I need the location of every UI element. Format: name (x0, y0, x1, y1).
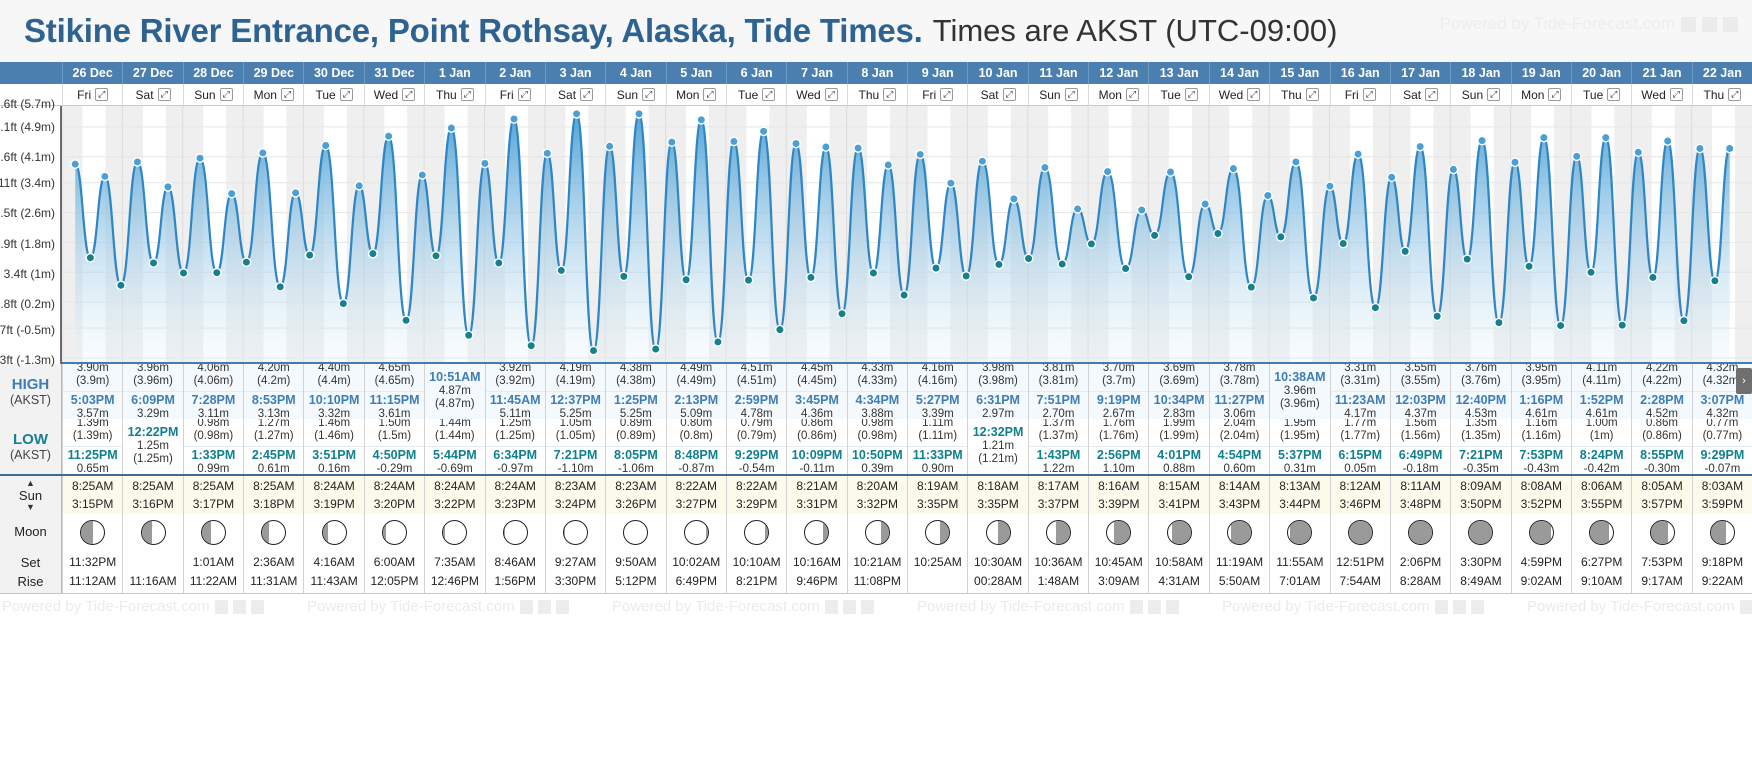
sunrise-arrow-icon: ▲ (26, 479, 35, 488)
moon-phase-cell (1571, 514, 1631, 551)
tide-height-alt: (4.22m) (1632, 375, 1691, 389)
sunset-time: 3:39PM (1089, 495, 1148, 513)
moon-phase-cell (1450, 514, 1510, 551)
tide-height: 4.65m (365, 364, 424, 375)
moon-shadow (998, 520, 1010, 545)
expand-icon[interactable]: ⤢ (1607, 88, 1620, 101)
tide-entry: 6:53AM4.06m(4.06m) (184, 364, 243, 391)
dayofweek-cell[interactable]: Sun⤢ (1028, 84, 1088, 106)
tide-height: 0.99m (184, 463, 243, 474)
tide-height: 1.25m (123, 440, 182, 454)
low-tide-cell: 4:37AM1.95m(1.95m)5:37PM0.31m(0.31m) (1269, 419, 1329, 474)
tide-height: 0.05m (1331, 463, 1390, 474)
dayofweek-cell[interactable]: Thu⤢ (424, 84, 484, 106)
moon-setrise-row: Set Rise 11:32PM11:12AM 11:16AM1:01AM11:… (0, 551, 1752, 593)
dayofweek-cell[interactable]: Sun⤢ (183, 84, 243, 106)
low-tide-cell: 8:11AM0.80m(0.8m)8:48PM-0.87m(-0.87m) (666, 419, 726, 474)
moon-setrise-cell: 3:30PM8:49AM (1450, 551, 1510, 593)
high-tide-cell: 2:17AM4.11m(4.11m)1:52PM4.61m(4.61m) (1571, 364, 1631, 419)
date-header-cell[interactable]: 12 Jan (1088, 62, 1148, 84)
page-subtitle: Times are AKST (UTC-09:00) (933, 13, 1338, 49)
dayofweek-label: Wed (1641, 88, 1665, 102)
dayofweek-cell[interactable]: Tue⤢ (1148, 84, 1208, 106)
tide-height: 1.95m (1270, 419, 1329, 430)
tide-time: 10:34PM (1149, 393, 1208, 408)
expand-icon[interactable]: ⤢ (940, 88, 953, 101)
expand-icon[interactable]: ⤢ (220, 88, 233, 101)
moon-setrise-cell: 10:36AM1:48AM (1028, 551, 1088, 593)
date-header-cell[interactable]: 31 Dec (364, 62, 424, 84)
moon-shadow (262, 520, 269, 545)
tide-entry: 6:00AM3.96m(3.96m) (123, 364, 182, 391)
moon-phase-cell (786, 514, 846, 551)
moonset-time: 10:21AM (848, 553, 907, 572)
sun-times-cell: 8:16AM3:39PM (1088, 476, 1148, 514)
high-tide-cell: 5:15AM4.16m(4.16m)5:27PM3.39m(3.39m) (907, 364, 967, 419)
high-tide-cell: 3:10AM4.51m(4.51m)2:59PM4.78m(4.78m) (726, 364, 786, 419)
dayofweek-cell[interactable]: Sat⤢ (1390, 84, 1450, 106)
moonset-time: 9:18PM (1693, 553, 1752, 572)
high-label-text: HIGH (12, 376, 50, 393)
date-header-cell[interactable]: 27 Dec (122, 62, 182, 84)
moonset-time: 10:16AM (787, 553, 846, 572)
dayofweek-cell[interactable]: Mon⤢ (1511, 84, 1571, 106)
tide-height: 4.61m (1512, 408, 1571, 419)
dayofweek-cell[interactable]: Wed⤢ (364, 84, 424, 106)
low-tide-cell: 12:22PM1.25m(1.25m) (122, 419, 182, 474)
date-header-cell[interactable]: 13 Jan (1148, 62, 1208, 84)
tide-time: 10:09PM (787, 448, 846, 463)
tide-entry: 2:47AM4.22m(4.22m) (1632, 364, 1691, 391)
moon-setrise-cell: 7:53PM9:17AM (1631, 551, 1691, 593)
tide-height: -0.87m (667, 463, 726, 474)
dayofweek-cell[interactable]: Thu⤢ (1692, 84, 1752, 106)
tide-entry: 10:50PM0.39m(0.39m) (848, 446, 907, 474)
tide-time: 1:25PM (606, 393, 665, 408)
date-header-row: 26 Dec27 Dec28 Dec29 Dec30 Dec31 Dec1 Ja… (0, 62, 1752, 84)
tide-entry: 5:15AM4.16m(4.16m) (908, 364, 967, 391)
moonrise-time (908, 572, 967, 591)
sunset-time: 3:37PM (1029, 495, 1088, 513)
tide-entry: 10:38AM3.96m(3.96m) (1270, 369, 1329, 414)
footer-icon-1 (1435, 600, 1448, 614)
tide-entry: 6:00AM3.98m(3.98m) (968, 364, 1027, 391)
tide-time: 1:52PM (1572, 393, 1631, 408)
sunrise-time: 8:22AM (667, 477, 726, 495)
tide-height-alt: (1.99m) (1149, 430, 1208, 444)
footer-watermark: Powered by Tide-Forecast.com (307, 598, 569, 615)
tide-height: 0.98m (184, 419, 243, 430)
dayofweek-cell[interactable]: Tue⤢ (1571, 84, 1631, 106)
expand-icon[interactable]: ⤢ (281, 88, 294, 101)
sunset-time: 3:48PM (1391, 495, 1450, 513)
footer-watermark-text: Powered by Tide-Forecast.com (2, 598, 210, 615)
tide-time: 10:50PM (848, 448, 907, 463)
low-tide-cell: 11:31AM1.11m(1.11m)11:33PM0.90m(0.9m) (907, 419, 967, 474)
sunset-time: 3:44PM (1270, 495, 1329, 513)
tide-time: 12:40PM (1451, 393, 1510, 408)
tide-entry: 2:45PM0.61m(0.61m) (244, 446, 303, 474)
tide-entry: 2:59PM4.78m(4.78m) (727, 391, 786, 419)
moonset-time: 4:16AM (304, 553, 363, 572)
tide-height-alt: (4.45m) (787, 375, 846, 389)
dayofweek-cell[interactable]: Sun⤢ (1450, 84, 1510, 106)
tide-entry: 5:03PM3.57m(3.57m) (63, 391, 122, 419)
sunrise-time: 8:13AM (1270, 477, 1329, 495)
dayofweek-cell[interactable]: Sun⤢ (605, 84, 665, 106)
sun-times-cell: 8:17AM3:37PM (1028, 476, 1088, 514)
moon-phase-icon (382, 520, 407, 545)
moonrise-time: 11:22AM (184, 572, 243, 591)
date-header-cell[interactable]: 28 Dec (183, 62, 243, 84)
expand-icon[interactable]: ⤢ (95, 88, 108, 101)
date-header-cell[interactable]: 20 Jan (1571, 62, 1631, 84)
footer-icon-1 (215, 600, 228, 614)
footer-watermark-text: Powered by Tide-Forecast.com (1527, 598, 1735, 615)
tide-height: 1.76m (1089, 419, 1148, 430)
tide-entry: 12:03PM4.37m(4.37m) (1391, 391, 1450, 419)
tide-height: 0.39m (848, 463, 907, 474)
expand-icon[interactable]: ⤢ (1185, 88, 1198, 101)
moon-phase-icon (1046, 520, 1071, 545)
tide-height: 4.53m (1451, 408, 1510, 419)
tide-height: 0.31m (1270, 463, 1329, 474)
date-header-cell[interactable]: 5 Jan (666, 62, 726, 84)
tide-height: 1.99m (1149, 419, 1208, 430)
dayofweek-cell[interactable]: Sat⤢ (545, 84, 605, 106)
date-header-cell[interactable]: 9 Jan (907, 62, 967, 84)
date-header-cell[interactable]: 7 Jan (786, 62, 846, 84)
moon-phase-cell (666, 514, 726, 551)
sun-times-cell: 8:23AM3:26PM (605, 476, 665, 514)
date-header-cell[interactable]: 22 Jan (1692, 62, 1752, 84)
expand-icon[interactable]: ⤢ (825, 88, 838, 101)
dayofweek-cell[interactable]: Fri⤢ (485, 84, 545, 106)
tide-height: 1.22m (1029, 463, 1088, 474)
moonset-time: 7:35AM (425, 553, 484, 572)
expand-icon[interactable]: ⤢ (158, 88, 171, 101)
low-tide-cell: 12:32PM1.21m(1.21m) (967, 419, 1027, 474)
footer-watermark: Powered by Tide-Forecast.com (1527, 598, 1752, 615)
tide-height: 1.05m (546, 419, 605, 430)
moon-phase-cell (1209, 514, 1269, 551)
low-tide-cell: 11:18AM1.39m(1.39m)11:25PM0.65m(0.65m) (62, 419, 122, 474)
low-tide-cell: 7:58AM1.00m(1m)8:24PM-0.42m(-0.42m) (1571, 419, 1631, 474)
tide-entry: 8:46AM3.69m(3.69m) (1149, 364, 1208, 391)
moon-phase-icon (1287, 520, 1312, 545)
tide-entry: 6:49AM3.81m(3.81m) (1029, 364, 1088, 391)
sunset-time: 3:31PM (787, 495, 846, 513)
tide-time: 4:34PM (848, 393, 907, 408)
tide-entry: 1:52PM4.61m(4.61m) (1572, 391, 1631, 419)
tide-entry: 5:40AM1.25m(1.25m) (486, 419, 545, 446)
expand-icon[interactable]: ⤢ (1363, 88, 1376, 101)
moon-setrise-cell: 11:32PM11:12AM (62, 551, 122, 593)
dayofweek-cell[interactable]: Wed⤢ (1631, 84, 1691, 106)
footer-icon-2 (538, 600, 551, 614)
tide-height: 0.89m (606, 419, 665, 430)
tide-height: 3.13m (244, 408, 303, 419)
dayofweek-label: Wed (796, 88, 820, 102)
date-header-cell[interactable]: 19 Jan (1511, 62, 1571, 84)
moon-setrise-cell: 9:27AM3:30PM (545, 551, 605, 593)
dayofweek-cell[interactable]: Sat⤢ (122, 84, 182, 106)
moon-phase-icon (563, 520, 588, 545)
expand-icon[interactable]: ⤢ (402, 88, 415, 101)
moon-shadow (765, 520, 768, 545)
sunset-time: 3:41PM (1149, 495, 1208, 513)
date-header-cell[interactable]: 26 Dec (62, 62, 122, 84)
moon-phase-cell (303, 514, 363, 551)
dayofweek-cell[interactable]: Wed⤢ (786, 84, 846, 106)
tide-height: -0.97m (486, 463, 545, 474)
tide-time: 5:44PM (425, 448, 484, 463)
low-tide-cell: 00:21AM1.37m(1.37m)1:43PM1.22m(1.22m) (1028, 419, 1088, 474)
moon-phase-cell (545, 514, 605, 551)
dayofweek-cell[interactable]: Mon⤢ (666, 84, 726, 106)
date-header-cell[interactable]: 10 Jan (967, 62, 1027, 84)
tide-entry: 5:44PM-0.69m(-0.69m) (425, 446, 484, 474)
expand-icon[interactable]: ⤢ (703, 88, 716, 101)
high-tide-cell: 6:00AM3.96m(3.96m)6:09PM3.29m(3.29m) (122, 364, 182, 419)
tide-entry: 6:07AM1.56m(1.56m) (1391, 419, 1450, 446)
sunrise-time: 8:06AM (1572, 477, 1631, 495)
moonrise-time: 9:02AM (1512, 572, 1571, 591)
footer-icon-1 (520, 600, 533, 614)
tide-entry: 1:16PM4.61m(4.61m) (1512, 391, 1571, 419)
dayofweek-label: Fri (922, 88, 936, 102)
moonrise-time: 11:12AM (63, 572, 122, 591)
tide-height: 4.45m (787, 364, 846, 375)
expand-icon[interactable]: ⤢ (518, 88, 531, 101)
date-header-cell[interactable]: 30 Dec (303, 62, 363, 84)
high-tide-cell: 1:44AM4.38m(4.38m)1:25PM5.25m(5.25m) (605, 364, 665, 419)
date-header-cell[interactable]: 21 Jan (1631, 62, 1691, 84)
moon-phase-icon (261, 520, 286, 545)
tide-height: 1.37m (1029, 419, 1088, 430)
tide-entry: 5:27PM3.39m(3.39m) (908, 391, 967, 419)
tide-height: -0.29m (365, 463, 424, 474)
tide-entry: 8:24PM-0.42m(-0.42m) (1572, 446, 1631, 474)
dayofweek-cell[interactable]: Sat⤢ (967, 84, 1027, 106)
tide-entry: 4:34PM3.88m(3.88m) (848, 391, 907, 419)
expand-icon[interactable]: ⤢ (580, 88, 593, 101)
expand-icon[interactable]: ⤢ (1306, 88, 1319, 101)
expand-icon[interactable]: ⤢ (1247, 88, 1260, 101)
tide-height: 0.90m (908, 463, 967, 474)
footer-icon-2 (233, 600, 246, 614)
moon-phase-icon (1710, 520, 1735, 545)
low-tide-cell: 1:19AM1.76m(1.76m)2:56PM1.10m(1.1m) (1088, 419, 1148, 474)
footer-watermark: Powered by Tide-Forecast.com (612, 598, 874, 615)
tide-height: 2.97m (968, 408, 1027, 419)
dayofweek-cell[interactable]: Thu⤢ (847, 84, 907, 106)
dayofweek-cell[interactable]: Fri⤢ (1330, 84, 1390, 106)
date-header-cell[interactable]: 17 Jan (1390, 62, 1450, 84)
tide-height: 4.52m (1632, 408, 1691, 419)
high-tide-cell: 6:53AM4.06m(4.06m)7:28PM3.11m(3.11m) (183, 364, 243, 419)
tide-entry: 9:29PM-0.54m(-0.54m) (727, 446, 786, 474)
moon-phase-cell (1148, 514, 1208, 551)
tide-entry: 9:19PM2.67m(2.67m) (1089, 391, 1148, 419)
dayofweek-cell[interactable]: Fri⤢ (907, 84, 967, 106)
date-header-cell[interactable]: 1 Jan (424, 62, 484, 84)
moon-shadow (202, 520, 211, 545)
tide-entry: 00:09AM3.31m(3.31m) (1331, 364, 1390, 391)
moon-phase-cell (1330, 514, 1390, 551)
tide-time: 7:21PM (1451, 448, 1510, 463)
expand-icon[interactable]: ⤢ (461, 88, 474, 101)
dayofweek-cell[interactable]: Fri⤢ (62, 84, 122, 106)
dayofweek-label: Mon (254, 88, 277, 102)
tide-height-alt: (3.31m) (1331, 375, 1390, 389)
sun-times-cell: 8:23AM3:24PM (545, 476, 605, 514)
dayofweek-label: Fri (77, 88, 91, 102)
tide-height: 5.09m (667, 408, 726, 419)
tide-height-alt: (4.19m) (546, 375, 605, 389)
tide-height: -0.54m (727, 463, 786, 474)
tide-height-alt: (4.51m) (727, 375, 786, 389)
tide-time: 10:51AM (425, 370, 484, 385)
scroll-right-button[interactable]: › (1736, 368, 1752, 394)
tide-time: 10:38AM (1270, 370, 1329, 385)
tide-height-alt: (1.5m) (365, 430, 424, 444)
header-watermark: Powered by Tide-Forecast.com (1440, 14, 1738, 34)
dayofweek-cell[interactable]: Wed⤢ (1209, 84, 1269, 106)
tide-height: 0.98m (848, 419, 907, 430)
tide-height: 0.61m (244, 463, 303, 474)
expand-icon[interactable]: ⤢ (883, 88, 896, 101)
tide-entry: 2:29AM1.46m(1.46m) (304, 419, 363, 446)
low-tide-cell: 00:18AM0.98m(0.98m)1:33PM0.99m(0.99m) (183, 419, 243, 474)
tide-entry: 11:15PM3.61m(3.61m) (365, 391, 424, 419)
date-header-cell[interactable]: 15 Jan (1269, 62, 1329, 84)
tide-height-alt: (0.98m) (848, 430, 907, 444)
expand-icon[interactable]: ⤢ (642, 88, 655, 101)
expand-icon[interactable]: ⤢ (1126, 88, 1139, 101)
tide-height: 1.46m (304, 419, 363, 430)
tide-height: 3.76m (1451, 364, 1510, 375)
sunrise-time: 8:24AM (486, 477, 545, 495)
tide-height: 3.06m (1210, 408, 1269, 419)
high-tide-cell: 6:49AM3.81m(3.81m)7:51PM2.70m(2.7m) (1028, 364, 1088, 419)
moon-shadow (823, 520, 828, 545)
expand-icon[interactable]: ⤢ (1548, 88, 1561, 101)
sun-times-cell: 8:09AM3:50PM (1450, 476, 1510, 514)
expand-icon[interactable]: ⤢ (1487, 88, 1500, 101)
tide-height: 1.77m (1331, 419, 1390, 430)
tide-entry: 2:17AM4.11m(4.11m) (1572, 364, 1631, 391)
moon-shadow (383, 520, 386, 545)
tide-height: -0.35m (1451, 463, 1510, 474)
date-header-cell[interactable]: 4 Jan (605, 62, 665, 84)
low-tide-cell: 8:59AM0.79m(0.79m)9:29PM-0.54m(-0.54m) (726, 419, 786, 474)
sunset-time: 3:59PM (1693, 495, 1752, 513)
moon-setrise-cell: 11:16AM (122, 551, 182, 593)
moon-phase-icon (1589, 520, 1614, 545)
tide-height: 1.44m (425, 419, 484, 430)
chart-y-axis: 16.1ft (4.9m)13.6ft (4.1m)11ft (3.4m)8.5… (0, 106, 62, 364)
low-tide-cell: 7:23AM0.89m(0.89m)8:05PM-1.06m(-1.06m) (605, 419, 665, 474)
tide-entry: 4:01PM0.88m(0.88m) (1149, 446, 1208, 474)
dayofweek-cell[interactable]: Tue⤢ (726, 84, 786, 106)
expand-icon[interactable]: ⤢ (340, 88, 353, 101)
date-header-cell[interactable]: 29 Dec (243, 62, 303, 84)
expand-icon[interactable]: ⤢ (1728, 88, 1741, 101)
date-header-cell[interactable]: 14 Jan (1209, 62, 1269, 84)
tide-height: 1.10m (1089, 463, 1148, 474)
date-header-cell[interactable]: 3 Jan (545, 62, 605, 84)
sun-label-text: Sun (19, 488, 42, 503)
expand-icon[interactable]: ⤢ (762, 88, 775, 101)
sun-times-cell: 8:22AM3:27PM (666, 476, 726, 514)
expand-icon[interactable]: ⤢ (1425, 88, 1438, 101)
date-header-cell[interactable]: 16 Jan (1330, 62, 1390, 84)
tide-entry: 7:22AM1.16m(1.16m) (1512, 419, 1571, 446)
date-header-corner (0, 62, 62, 84)
moonset-time: 1:01AM (184, 553, 243, 572)
tide-time: 6:31PM (968, 393, 1027, 408)
sun-times-cell: 8:25AM3:15PM (62, 476, 122, 514)
tide-time: 2:56PM (1089, 448, 1148, 463)
moon-setrise-cell: 10:02AM6:49PM (666, 551, 726, 593)
moonrise-time: 8:21PM (727, 572, 786, 591)
date-header-cell[interactable]: 18 Jan (1450, 62, 1510, 84)
moonrise-time: 3:30PM (546, 572, 605, 591)
header-watermark-text: Powered by Tide-Forecast.com (1440, 14, 1675, 34)
tide-height: 1.39m (63, 419, 122, 430)
dayofweek-cell[interactable]: Mon⤢ (1088, 84, 1148, 106)
date-header-cell[interactable]: 6 Jan (726, 62, 786, 84)
tide-table: HIGH (AKST) 5:14AM3.90m(3.9m)5:03PM3.57m… (0, 364, 1752, 593)
sun-times-cell: 8:18AM3:35PM (967, 476, 1027, 514)
expand-icon[interactable]: ⤢ (1065, 88, 1078, 101)
y-axis-tick-clipped: 18.6ft (5.7m) (0, 97, 55, 111)
tide-entry: 5:14AM3.90m(3.9m) (63, 364, 122, 391)
moonset-time: 10:25AM (908, 553, 967, 572)
tide-time: 8:53PM (244, 393, 303, 408)
tide-entry: 7:21PM-1.10m(-1.1m) (546, 446, 605, 474)
low-label-text: LOW (13, 431, 48, 448)
dayofweek-label: Sat (1403, 88, 1421, 102)
sun-times-cell: 8:24AM3:22PM (424, 476, 484, 514)
sun-times-cell: 8:08AM3:52PM (1511, 476, 1571, 514)
tide-time: 1:16PM (1512, 393, 1571, 408)
tide-entry: 7:23AM0.89m(0.89m) (606, 419, 665, 446)
footer-watermark: Powered by Tide-Forecast.com (2, 598, 264, 615)
date-header-cell[interactable]: 2 Jan (485, 62, 545, 84)
moon-shadow (1349, 520, 1372, 545)
expand-icon[interactable]: ⤢ (1003, 88, 1016, 101)
dayofweek-cell[interactable]: Tue⤢ (303, 84, 363, 106)
moon-phase-cell (183, 514, 243, 551)
tide-height-alt: (4.38m) (606, 375, 665, 389)
moon-phase-icon (141, 520, 166, 545)
date-header-cell[interactable]: 11 Jan (1028, 62, 1088, 84)
date-header-cell[interactable]: 8 Jan (847, 62, 907, 84)
moon-setrise-cell: 10:30AM00:28AM (967, 551, 1027, 593)
tide-entry: 9:47AM0.86m(0.86m) (787, 419, 846, 446)
dayofweek-label: Wed (374, 88, 398, 102)
high-tide-cell: 4:33AM4.33m(4.33m)4:34PM3.88m(3.88m) (847, 364, 907, 419)
tide-height-alt: (3.9m) (63, 375, 122, 389)
dayofweek-cell[interactable]: Thu⤢ (1269, 84, 1329, 106)
tide-entry: 1:33PM0.99m(0.99m) (184, 446, 243, 474)
tide-time: 9:29PM (1693, 448, 1752, 463)
tide-height: 4.36m (787, 408, 846, 419)
expand-icon[interactable]: ⤢ (1670, 88, 1683, 101)
dayofweek-cell[interactable]: Mon⤢ (243, 84, 303, 106)
